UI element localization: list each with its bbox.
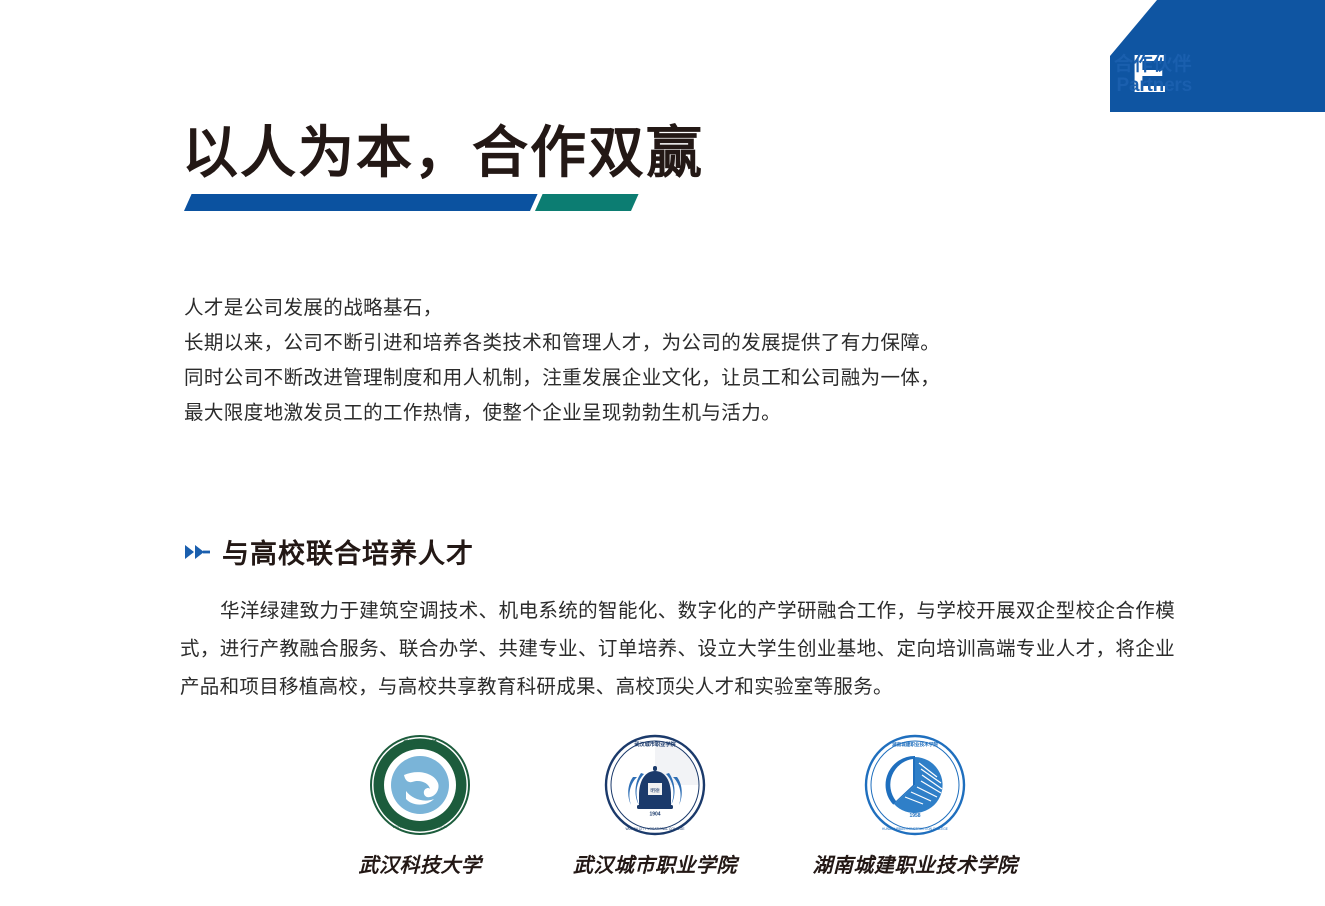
svg-text:湖南城建职业技术学院: 湖南城建职业技术学院 [892,741,938,748]
section-paragraph: 华洋绿建致力于建筑空调技术、机电系统的智能化、数字化的产学研融合工作，与学校开展… [180,592,1175,706]
rule-segment-blue [184,194,538,211]
partner-caption: 武汉城市职业学院 [573,849,737,878]
intro-line: 同时公司不断改进管理制度和用人机制，注重发展企业文化，让员工和公司融为一体， [184,360,940,395]
corner-section-labels: 合作伙伴 Partners [1114,54,1192,97]
section-title: 与高校联合培养人才 [222,532,474,571]
partner-item: 1958 湖南城建职业技术学院 HUNAN URBAN CONSTRUCTION… [770,733,1060,878]
partner-logos-row: 武汉科技大学 WUHAN UNIV. OF SCI. AND TECH. 武汉科… [300,733,1060,878]
intro-paragraph: 人才是公司发展的战略基石， 长期以来，公司不断引进和培养各类技术和管理人才，为公… [184,290,940,430]
partner-item: 武汉科技大学 WUHAN UNIV. OF SCI. AND TECH. 武汉科… [300,733,540,878]
wuhan-city-vocational-seal-icon: 明德 1904 武汉城市职业学院 WUHAN CITY VOCATIONAL C… [603,733,707,837]
partner-caption: 武汉科技大学 [359,849,482,878]
slide-canvas: E 合作伙伴 Partners 以人为本，合作双赢 人才是公司发展的战略基石， … [0,0,1325,906]
svg-text:1958: 1958 [909,813,920,819]
section-heading: 与高校联合培养人才 [184,532,474,571]
wust-seal-icon: 武汉科技大学 WUHAN UNIV. OF SCI. AND TECH. [368,733,472,837]
svg-text:HUNAN URBAN CONSTRUCTION COLLE: HUNAN URBAN CONSTRUCTION COLLEGE [882,827,948,831]
svg-text:明德: 明德 [650,787,660,794]
intro-line: 长期以来，公司不断引进和培养各类技术和管理人才，为公司的发展提供了有力保障。 [184,325,940,360]
partner-item: 明德 1904 武汉城市职业学院 WUHAN CITY VOCATIONAL C… [540,733,770,878]
title-underline-rule [184,194,630,211]
svg-text:武汉城市职业学院: 武汉城市职业学院 [634,740,676,748]
svg-text:1904: 1904 [649,812,660,818]
corner-label-cn: 合作伙伴 [1114,54,1192,75]
svg-text:WUHAN CITY VOCATIONAL COLLEGE: WUHAN CITY VOCATIONAL COLLEGE [625,827,685,831]
intro-line: 最大限度地激发员工的工作热情，使整个企业呈现勃勃生机与活力。 [184,395,940,430]
svg-text:WUHAN UNIV. OF SCI. AND TECH.: WUHAN UNIV. OF SCI. AND TECH. [393,825,448,829]
rule-segment-green [535,194,639,211]
partner-caption: 湖南城建职业技术学院 [813,849,1018,878]
hunan-urban-construction-seal-icon: 1958 湖南城建职业技术学院 HUNAN URBAN CONSTRUCTION… [863,733,967,837]
page-title: 以人为本，合作双赢 [182,108,704,189]
corner-label-en: Partners [1114,75,1192,96]
svg-text:武汉科技大学: 武汉科技大学 [403,739,437,747]
double-arrow-icon [184,542,212,562]
intro-line: 人才是公司发展的战略基石， [184,290,940,325]
